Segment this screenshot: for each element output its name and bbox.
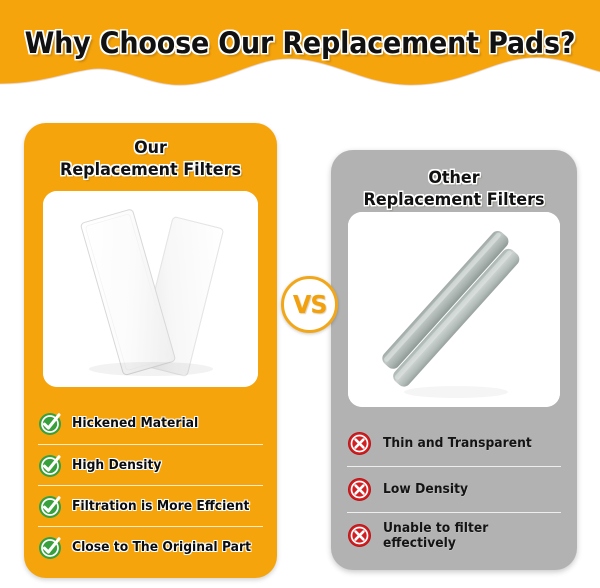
feature-label: Unable to filter effectively [383,521,488,551]
feature-row: Unable to filter effectively [347,512,561,558]
check-circle-icon [38,453,63,478]
feature-row: Close to The Original Part [38,526,263,567]
feature-label: Hickened Material [72,416,198,431]
cross-circle-icon [347,477,372,502]
product-photo-other [348,212,560,407]
gray-filter-strips-illustration [348,212,560,407]
infographic-root: Why Choose Our Replacement Pads? Our Rep… [0,0,600,588]
card-our-replacement-filters: Our Replacement Filters [24,123,277,578]
card-other-replacement-filters: Other Replacement Filters [331,150,577,570]
cross-circle-icon [347,523,372,548]
check-circle-icon [38,411,63,436]
feature-row: Hickened Material [38,403,263,444]
feature-row: Filtration is More Effcient [38,485,263,526]
card-title-ours-line2: Replacement Filters [32,159,270,181]
feature-list-ours: Hickened Material High Density [24,403,277,567]
card-title-other: Other Replacement Filters [338,167,569,211]
feature-row: High Density [38,444,263,485]
feature-row: Thin and Transparent [347,420,561,466]
cross-circle-icon [347,431,372,456]
card-title-ours-line1: Our [32,137,270,159]
card-title-other-line2: Replacement Filters [338,189,569,211]
card-title-ours: Our Replacement Filters [32,137,270,181]
feature-list-other: Thin and Transparent Low Density [331,420,577,558]
feature-label: Close to The Original Part [72,540,251,555]
feature-label: Filtration is More Effcient [72,499,249,514]
check-circle-icon [38,494,63,519]
vs-badge-label: VS [293,290,327,319]
page-title: Why Choose Our Replacement Pads? [21,26,579,60]
feature-label: Low Density [383,482,468,497]
white-filter-pads-illustration [43,191,258,387]
vs-badge: VS [281,276,338,333]
check-circle-icon [38,535,63,560]
product-photo-ours [43,191,258,387]
feature-label: High Density [72,458,161,473]
feature-label: Thin and Transparent [383,436,532,451]
feature-row: Low Density [347,466,561,512]
card-title-other-line1: Other [338,167,569,189]
header-banner: Why Choose Our Replacement Pads? [0,0,600,108]
